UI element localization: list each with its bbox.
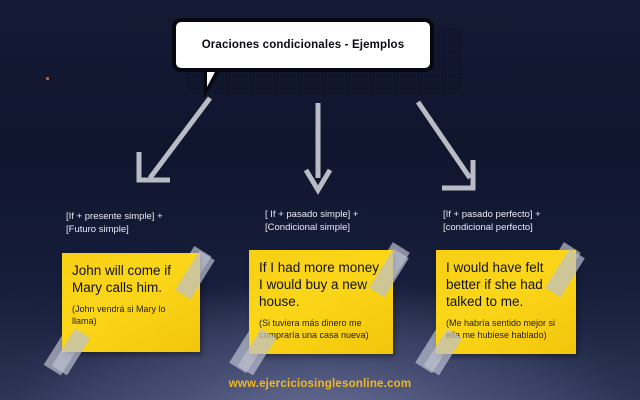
example-es-3: (Me habría sentido mejor si ella me hubi…	[446, 317, 567, 341]
example-es-2: (Si tuviera más dinero me compraría una …	[259, 317, 384, 341]
slide-canvas: Oraciones condicionales - Ejemplos [If +…	[0, 0, 640, 400]
bubble-body: Oraciones condicionales - Ejemplos	[172, 18, 434, 72]
formula-label-1: [If + presente simple] + [Futuro simple]	[66, 210, 216, 236]
title-speech-bubble: Oraciones condicionales - Ejemplos	[172, 18, 452, 106]
formula-label-2: [ If + pasado simple] + [Condicional sim…	[265, 208, 425, 234]
page-title: Oraciones condicionales - Ejemplos	[202, 39, 405, 51]
background-speck	[46, 77, 49, 80]
footer-url[interactable]: www.ejerciciosinglesonline.com	[0, 378, 640, 390]
example-es-1: (John vendrá si Mary lo llama)	[72, 303, 191, 327]
arrow-center-icon	[306, 103, 330, 190]
example-en-1: John will come if Mary calls him.	[72, 262, 191, 296]
arrow-right-icon	[418, 102, 473, 188]
formula-label-3: [If + pasado perfecto] + [condicional pe…	[443, 208, 603, 234]
arrow-left-icon	[139, 98, 210, 180]
example-en-2: If I had more money I would buy a new ho…	[259, 259, 384, 310]
